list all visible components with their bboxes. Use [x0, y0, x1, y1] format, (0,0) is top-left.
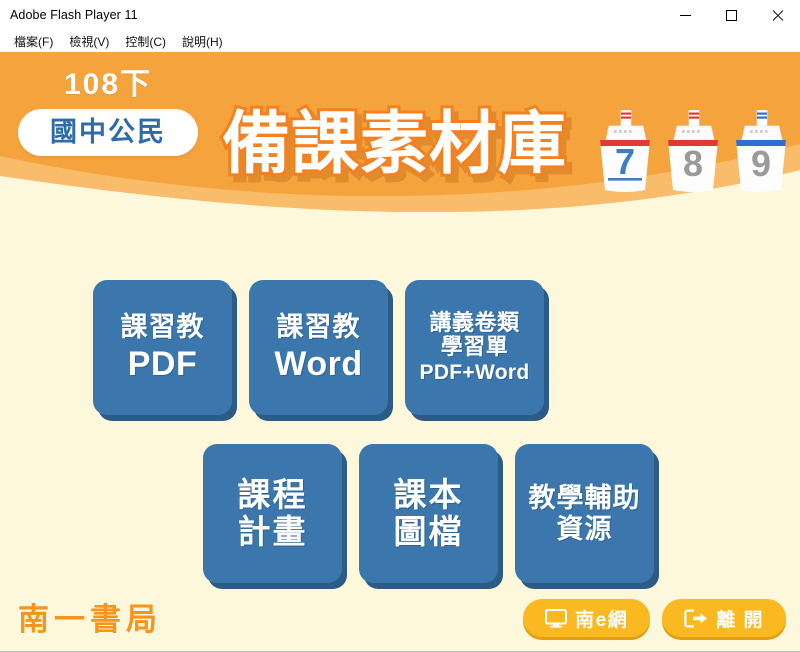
menu-item-control[interactable]: 控制(C) — [117, 31, 174, 52]
maximize-button[interactable] — [708, 0, 754, 30]
button-course-plan[interactable]: 課程 計畫 — [203, 444, 342, 583]
flash-player-window: Adobe Flash Player 11 檔案(F) 檢視(V) 控制(C) … — [0, 0, 800, 652]
footer-buttons: 南e網 離 開 — [523, 599, 786, 637]
button-label-line2: 計畫 — [238, 514, 308, 551]
flash-stage: 108下 國中公民 備課素材庫 — [0, 52, 800, 652]
book-tab-9[interactable]: 9 — [732, 110, 790, 194]
header-banner: 108下 國中公民 備課素材庫 — [0, 52, 800, 212]
button-label-line1: 課程 — [238, 477, 308, 514]
publisher-logo: 南一書局 — [18, 594, 162, 639]
maximize-icon — [726, 10, 737, 21]
button-exit[interactable]: 離 開 — [662, 599, 786, 637]
book-number-7: 7 — [615, 141, 635, 182]
window-title: Adobe Flash Player 11 — [0, 8, 138, 22]
minimize-icon — [680, 15, 691, 16]
button-textbook-images[interactable]: 課本 圖檔 — [359, 444, 498, 583]
level-term-label: 108下 — [18, 70, 198, 100]
book-number-8: 8 — [683, 143, 703, 184]
menu-bar: 檔案(F) 檢視(V) 控制(C) 說明(H) — [0, 30, 800, 52]
button-label: 南e網 — [575, 605, 628, 632]
menu-button-row-2: 課程 計畫 課本 圖檔 教學輔助 資源 — [203, 444, 654, 583]
close-button[interactable] — [754, 0, 800, 30]
boat-icon-7: 7 — [596, 110, 654, 194]
exit-icon — [684, 609, 708, 628]
subject-pill: 國中公民 — [18, 109, 198, 156]
subject-label: 國中公民 — [50, 119, 166, 146]
minimize-button[interactable] — [662, 0, 708, 30]
button-label-line2: Word — [274, 345, 362, 383]
book-tab-7[interactable]: 7 — [596, 110, 654, 194]
button-label-line1: 課本 — [394, 477, 464, 514]
book-tab-8[interactable]: 8 — [664, 110, 722, 194]
button-label-line1: 課習教 — [121, 312, 205, 342]
button-nani-enet[interactable]: 南e網 — [523, 599, 650, 637]
button-label-line2: PDF — [128, 345, 198, 383]
close-icon — [771, 9, 784, 22]
page-title: 備課素材庫 — [222, 110, 567, 178]
menu-item-file[interactable]: 檔案(F) — [6, 31, 61, 52]
button-handout-worksheet[interactable]: 講義卷類 學習單 PDF+Word — [405, 280, 544, 415]
menu-button-row-1: 課習教 PDF 課習教 Word 講義卷類 學習單 PDF+Word — [93, 280, 544, 415]
button-lesson-word[interactable]: 課習教 Word — [249, 280, 388, 415]
title-bar: Adobe Flash Player 11 — [0, 0, 800, 30]
menu-item-help[interactable]: 說明(H) — [174, 31, 231, 52]
button-label-line1: 課習教 — [277, 312, 361, 342]
button-teaching-support[interactable]: 教學輔助 資源 — [515, 444, 654, 583]
button-lesson-pdf[interactable]: 課習教 PDF — [93, 280, 232, 415]
button-label-line1: 教學輔助 — [529, 483, 641, 513]
book-tabs: 7 — [596, 110, 790, 194]
boat-icon-9: 9 — [732, 110, 790, 194]
banner-content: 108下 國中公民 備課素材庫 — [0, 52, 800, 212]
button-label-line1: 講義卷類 — [429, 311, 519, 336]
boat-icon-8: 8 — [664, 110, 722, 194]
monitor-icon — [545, 609, 567, 628]
window-controls — [662, 0, 800, 30]
button-label: 離 開 — [716, 605, 764, 632]
button-label-line2: 資源 — [557, 514, 613, 544]
book-number-9: 9 — [751, 143, 771, 184]
level-badge: 108下 國中公民 — [18, 70, 198, 156]
button-label-line2: 圖檔 — [394, 514, 464, 551]
button-label-line2: 學習單 — [441, 335, 509, 360]
button-label-line3: PDF+Word — [420, 361, 530, 385]
menu-item-view[interactable]: 檢視(V) — [61, 31, 117, 52]
